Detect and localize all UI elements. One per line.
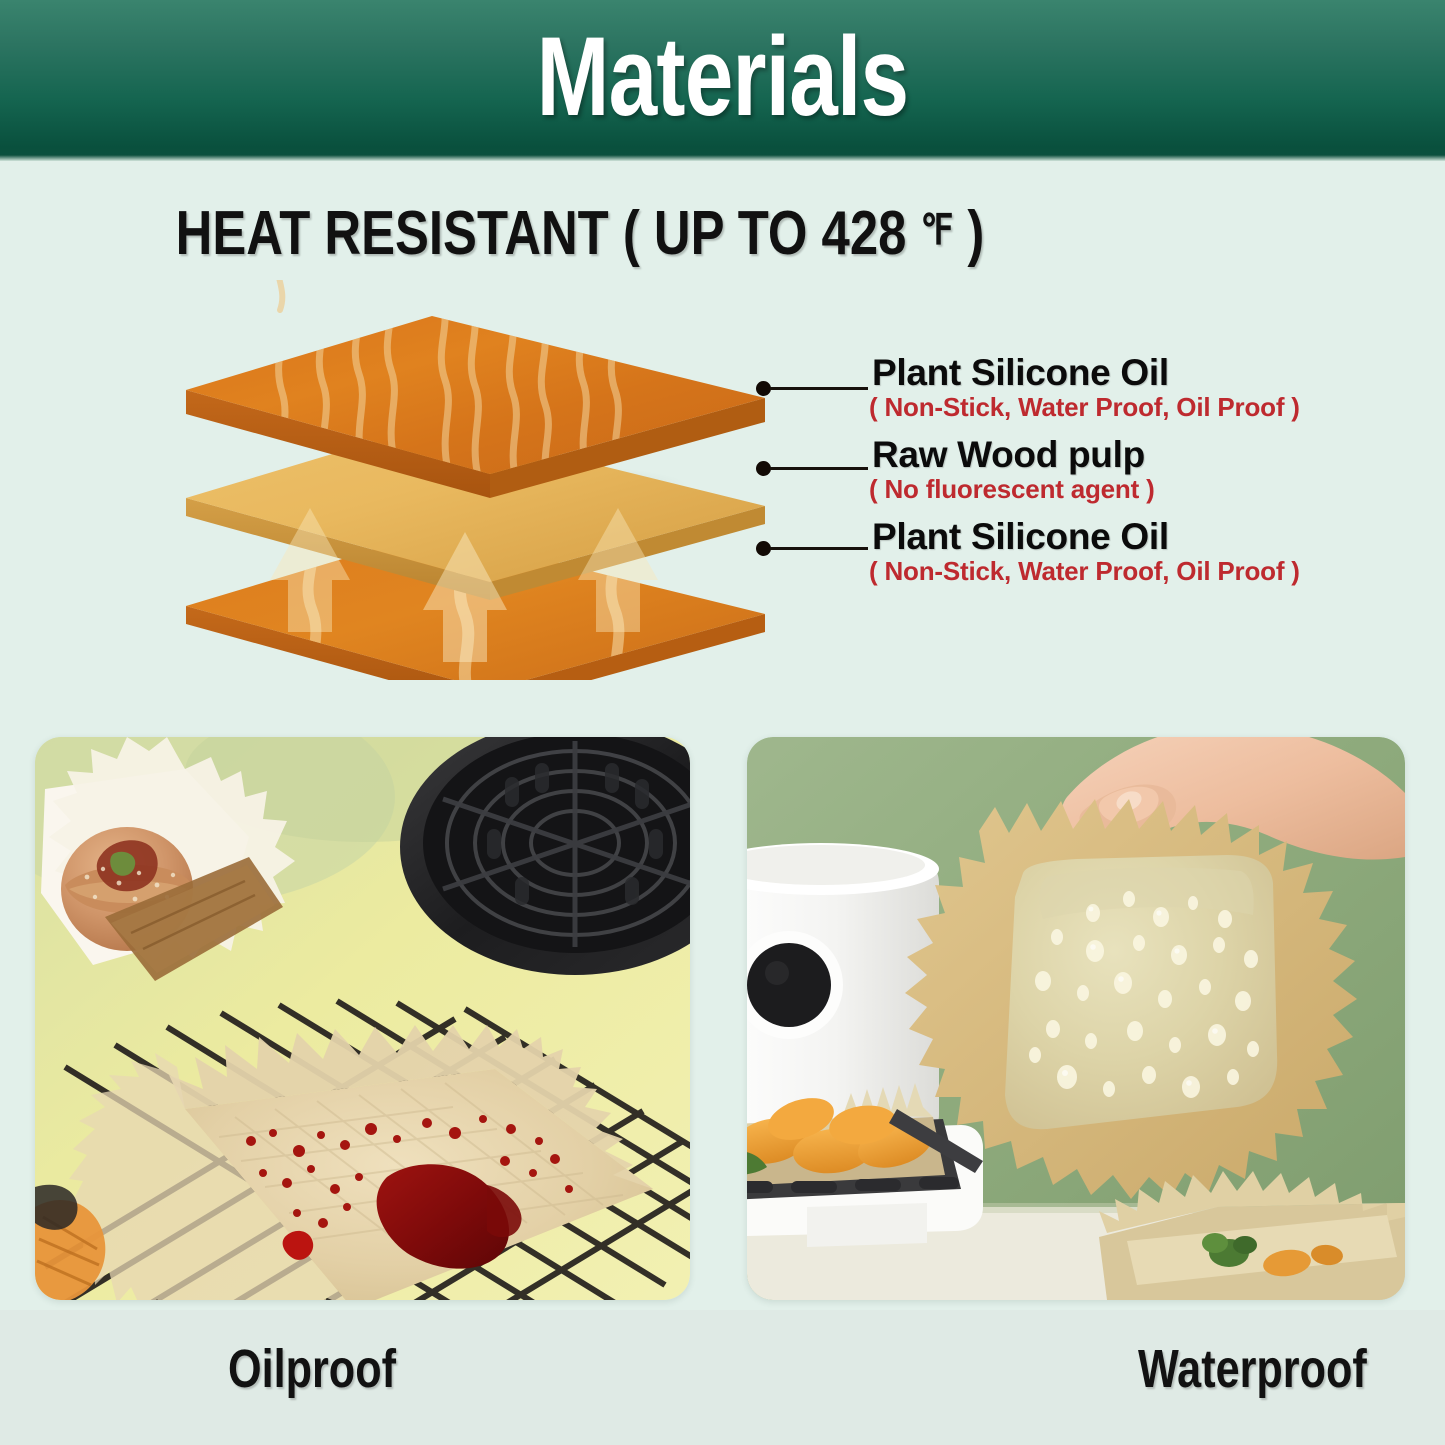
header-banner: Materials [0, 0, 1445, 160]
page-title: Materials [159, 18, 1286, 136]
callout-line [770, 387, 868, 390]
photo-oilproof [35, 737, 690, 1300]
callout-dot [756, 461, 771, 476]
fryer-display [747, 943, 831, 1027]
callout-dot [756, 541, 771, 556]
banner-underline-divider [0, 155, 1445, 161]
callout-dot [756, 381, 771, 396]
layer-title-wood-pulp: Raw Wood pulp [872, 434, 1145, 476]
layer-subtitle-top-silicone: ( Non-Stick, Water Proof, Oil Proof ) [869, 392, 1300, 423]
layer-title-top-silicone: Plant Silicone Oil [872, 352, 1169, 394]
infographic-page: Materials HEAT RESISTANT ( UP TO 428 ℉ ) [0, 0, 1445, 1445]
degree-fahrenheit-icon: ℉ [921, 206, 954, 253]
callout-line [770, 547, 868, 550]
heat-wave-lines-above [278, 280, 283, 310]
photo-waterproof [747, 737, 1405, 1300]
callout-line [770, 467, 868, 470]
heat-resistant-headline: HEAT RESISTANT ( UP TO 428 ℉ ) [104, 198, 1055, 269]
headline-prefix-text: HEAT RESISTANT ( UP TO 428 [176, 199, 921, 268]
caption-oilproof: Oilproof [228, 1338, 396, 1400]
caption-waterproof: Waterproof [1138, 1338, 1367, 1400]
headline-suffix-text: ) [953, 199, 984, 268]
layer-subtitle-wood-pulp: ( No fluorescent agent ) [869, 474, 1155, 505]
layer-diagram [160, 280, 800, 680]
layer-subtitle-bottom-silicone: ( Non-Stick, Water Proof, Oil Proof ) [869, 556, 1300, 587]
diagram-layer-top-silicone [186, 284, 765, 498]
layer-title-bottom-silicone: Plant Silicone Oil [872, 516, 1169, 558]
